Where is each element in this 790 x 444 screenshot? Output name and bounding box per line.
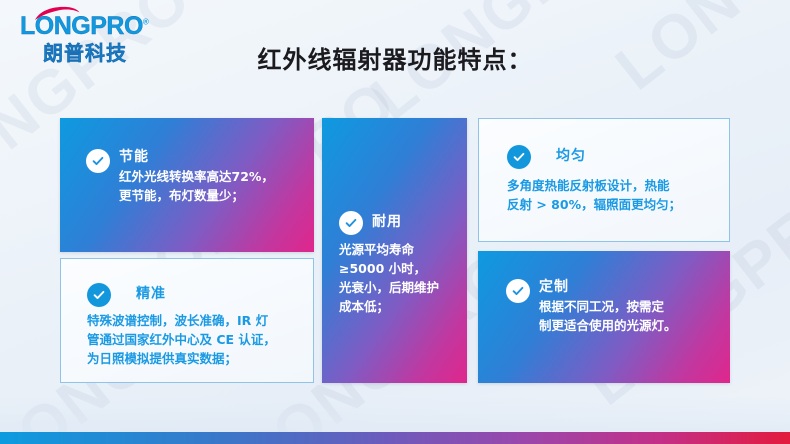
card-content: 精准 特殊波谱控制，波长准确，IR 灯 管通过国家红外中心及 CE 认证， 为日… — [87, 282, 276, 368]
card-content: 节能 红外光线转换率高达72%， 更节能，布灯数量少； — [86, 148, 274, 205]
card-heading-row: 耐用 — [339, 210, 402, 235]
card-body-text: 多角度热能反射板设计，热能 反射 > 80%，辐照面更均匀； — [507, 176, 681, 214]
card-heading-row: 精准 — [87, 282, 166, 307]
bottom-fade — [0, 396, 790, 432]
feature-card-precision: 精准 特殊波谱控制，波长准确，IR 灯 管通过国家红外中心及 CE 认证， 为日… — [60, 258, 314, 383]
check-circle-icon — [87, 283, 111, 307]
card-body-text: 特殊波谱控制，波长准确，IR 灯 管通过国家红外中心及 CE 认证， 为日照模拟… — [87, 311, 276, 368]
card-body-text: 根据不同工况，按需定 制更适合使用的光源灯。 — [539, 297, 677, 335]
card-content: 耐用 光源平均寿命 ≥5000 小时， 光衰小，后期维护 成本低； — [339, 210, 439, 316]
feature-card-custom: 定制 根据不同工况，按需定 制更适合使用的光源灯。 — [478, 251, 730, 383]
card-body-text: 光源平均寿命 ≥5000 小时， 光衰小，后期维护 成本低； — [339, 240, 439, 316]
feature-card-uniform: 均匀 多角度热能反射板设计，热能 反射 > 80%，辐照面更均匀； — [478, 118, 730, 242]
card-heading: 均匀 — [540, 147, 586, 166]
check-circle-icon — [506, 279, 530, 303]
card-content: 均匀 多角度热能反射板设计，热能 反射 > 80%，辐照面更均匀； — [507, 144, 681, 214]
logo-registered-mark: ® — [143, 18, 148, 27]
card-heading: 精准 — [120, 285, 166, 304]
check-circle-icon — [507, 145, 531, 169]
card-text: 节能 红外光线转换率高达72%， 更节能，布灯数量少； — [119, 148, 274, 205]
card-heading-row: 均匀 — [507, 144, 586, 169]
slide-canvas: LONGPRO LONGPRO LONGPRO LONGPRO LONGPRO … — [0, 0, 790, 444]
card-body-text: 红外光线转换率高达72%， 更节能，布灯数量少； — [119, 167, 274, 205]
logo-swoosh-icon — [34, 6, 80, 22]
logo-wordmark-row: LONGPRO® — [20, 14, 150, 39]
card-heading: 节能 — [119, 148, 274, 167]
card-heading: 定制 — [539, 278, 677, 297]
page-title: 红外线辐射器功能特点： — [0, 40, 790, 75]
feature-card-durable: 耐用 光源平均寿命 ≥5000 小时， 光衰小，后期维护 成本低； — [322, 118, 467, 383]
card-text: 定制 根据不同工况，按需定 制更适合使用的光源灯。 — [539, 278, 677, 335]
feature-card-energy: 节能 红外光线转换率高达72%， 更节能，布灯数量少； — [60, 118, 314, 252]
card-heading: 耐用 — [372, 213, 402, 232]
card-content: 定制 根据不同工况，按需定 制更适合使用的光源灯。 — [506, 278, 677, 335]
check-circle-icon — [86, 149, 110, 173]
bottom-accent-bar — [0, 432, 790, 444]
check-circle-icon — [339, 211, 363, 235]
